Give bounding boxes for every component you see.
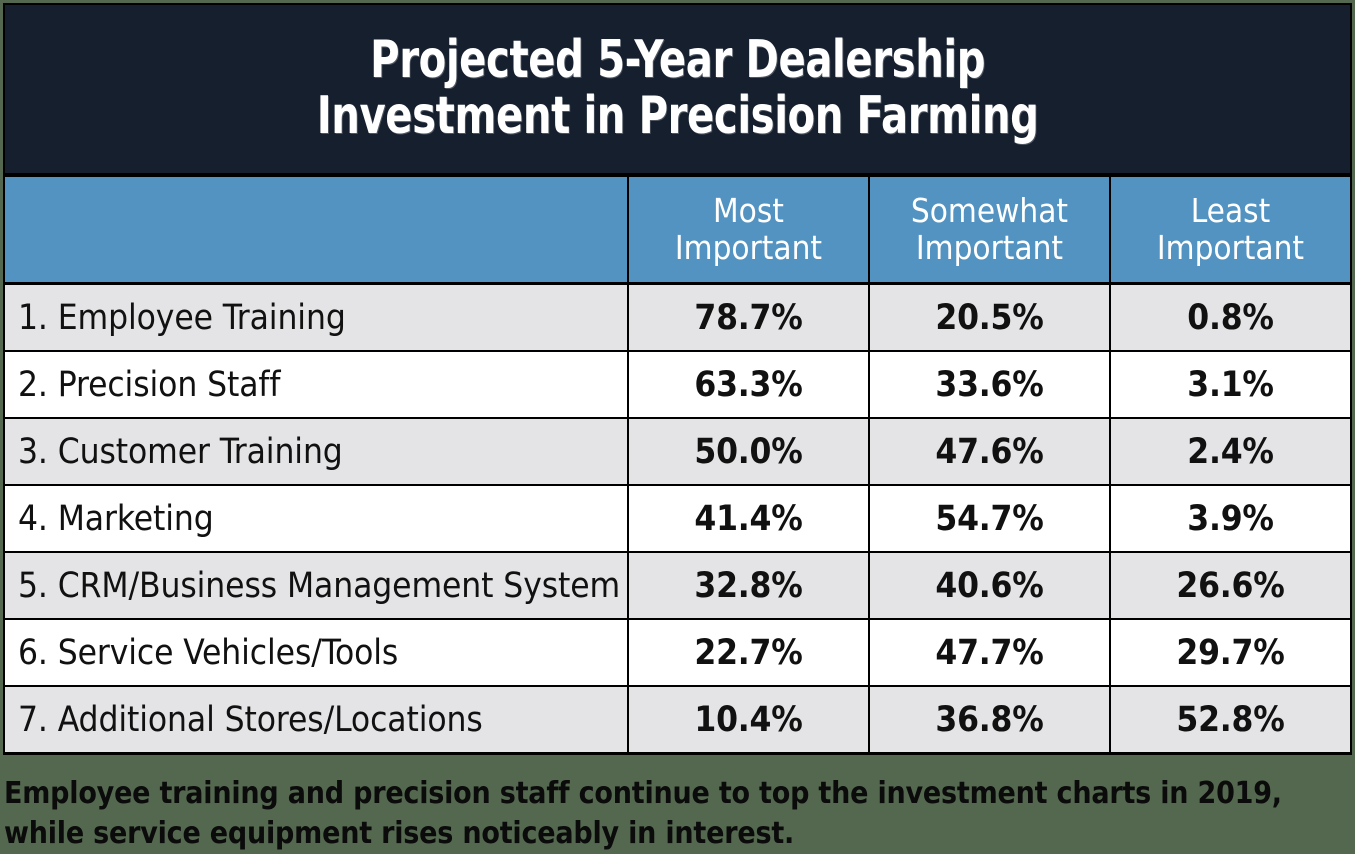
table-header-row: Most Important Somewhat Important Least …: [4, 176, 1351, 284]
row-label: 1. Employee Training: [4, 284, 628, 352]
cell-somewhat-important: 40.6%: [869, 552, 1110, 619]
table-row: 2. Precision Staff 63.3% 33.6% 3.1%: [4, 351, 1351, 418]
cell-most-important: 41.4%: [628, 485, 869, 552]
table-row: 6. Service Vehicles/Tools 22.7% 47.7% 29…: [4, 619, 1351, 686]
column-header-least-important: Least Important: [1110, 176, 1351, 284]
column-header-investment-area: [4, 176, 628, 284]
investment-priority-table: Most Important Somewhat Important Least …: [3, 175, 1352, 755]
cell-most-important: 78.7%: [628, 284, 869, 352]
cell-somewhat-important: 47.6%: [869, 418, 1110, 485]
cell-least-important: 29.7%: [1110, 619, 1351, 686]
title-banner: Projected 5-Year Dealership Investment i…: [3, 3, 1352, 175]
cell-somewhat-important: 33.6%: [869, 351, 1110, 418]
cell-least-important: 52.8%: [1110, 686, 1351, 754]
row-label: 7. Additional Stores/Locations: [4, 686, 628, 754]
row-label: 3. Customer Training: [4, 418, 628, 485]
cell-somewhat-important: 36.8%: [869, 686, 1110, 754]
cell-least-important: 2.4%: [1110, 418, 1351, 485]
caption-text: Employee training and precision staff co…: [3, 774, 1355, 854]
cell-least-important: 3.9%: [1110, 485, 1351, 552]
table-row: 7. Additional Stores/Locations 10.4% 36.…: [4, 686, 1351, 754]
cell-most-important: 50.0%: [628, 418, 869, 485]
row-label: 4. Marketing: [4, 485, 628, 552]
cell-least-important: 26.6%: [1110, 552, 1351, 619]
table-row: 3. Customer Training 50.0% 47.6% 2.4%: [4, 418, 1351, 485]
cell-somewhat-important: 54.7%: [869, 485, 1110, 552]
cell-somewhat-important: 20.5%: [869, 284, 1110, 352]
column-header-most-important: Most Important: [628, 176, 869, 284]
row-label: 6. Service Vehicles/Tools: [4, 619, 628, 686]
cell-most-important: 32.8%: [628, 552, 869, 619]
page-title: Projected 5-Year Dealership Investment i…: [317, 33, 1039, 144]
row-label: 5. CRM/Business Management System: [4, 552, 628, 619]
cell-least-important: 3.1%: [1110, 351, 1351, 418]
cell-most-important: 10.4%: [628, 686, 869, 754]
infographic-table-page: Projected 5-Year Dealership Investment i…: [0, 0, 1355, 834]
cell-most-important: 63.3%: [628, 351, 869, 418]
table-row: 5. CRM/Business Management System 32.8% …: [4, 552, 1351, 619]
cell-somewhat-important: 47.7%: [869, 619, 1110, 686]
table-row: 4. Marketing 41.4% 54.7% 3.9%: [4, 485, 1351, 552]
cell-most-important: 22.7%: [628, 619, 869, 686]
row-label: 2. Precision Staff: [4, 351, 628, 418]
table-body: 1. Employee Training 78.7% 20.5% 0.8% 2.…: [4, 284, 1351, 754]
table-header: Most Important Somewhat Important Least …: [4, 176, 1351, 284]
column-header-somewhat-important: Somewhat Important: [869, 176, 1110, 284]
cell-least-important: 0.8%: [1110, 284, 1351, 352]
table-row: 1. Employee Training 78.7% 20.5% 0.8%: [4, 284, 1351, 352]
